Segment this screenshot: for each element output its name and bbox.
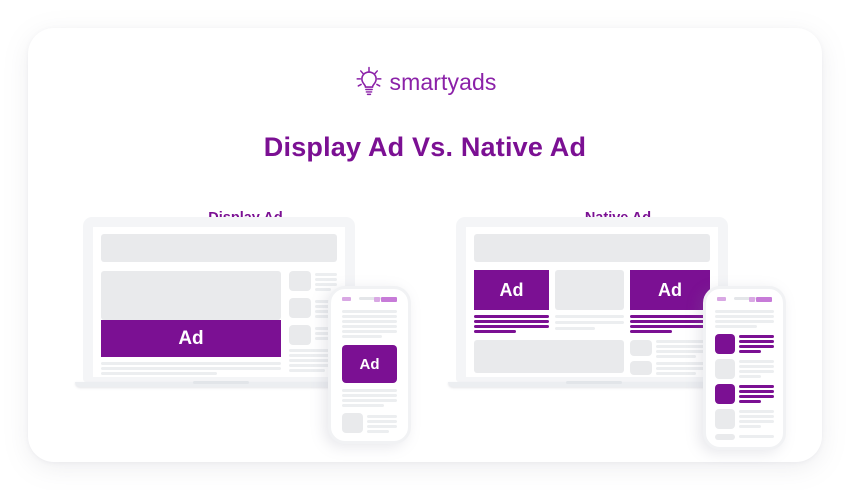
phone-line: [342, 325, 397, 328]
sidebar-thumb: [289, 298, 311, 318]
native-ad-phone: [703, 286, 786, 450]
phone-line: [342, 394, 397, 397]
body-line: [101, 372, 217, 375]
battery-icon: [756, 297, 772, 302]
signal-icon: [717, 297, 726, 301]
phone-line: [739, 425, 761, 428]
organic-card-2: [555, 270, 624, 310]
sidebar-line: [315, 273, 337, 276]
phone-line: [739, 410, 774, 413]
lower-content-block: [474, 340, 624, 373]
phone-line-purple: [739, 335, 774, 338]
organic-line: [555, 315, 624, 318]
phone-line: [367, 425, 397, 428]
phone-line: [342, 335, 382, 338]
content-card: smartyads Display Ad Vs. Native Ad Displ…: [28, 28, 822, 462]
phone-line: [715, 315, 774, 318]
lower-line: [656, 355, 696, 358]
organic-line: [555, 321, 624, 324]
sidebar-line: [315, 283, 337, 286]
lightbulb-icon: [354, 66, 384, 98]
wifi-icon: [749, 297, 755, 302]
native-line-purple: [630, 320, 705, 323]
phone-organic-thumb-4: [715, 409, 735, 429]
phone-screen: Ad: [335, 293, 404, 437]
native-line-purple: [630, 315, 705, 318]
native-ad-card-1[interactable]: Ad: [474, 270, 549, 310]
brand-logo[interactable]: smartyads: [28, 66, 822, 98]
phone-line-purple: [739, 350, 761, 353]
phone-line: [739, 360, 774, 363]
phone-line: [739, 365, 774, 368]
native-line-purple: [474, 320, 549, 323]
body-line: [101, 362, 281, 365]
organic-line: [555, 327, 595, 330]
phone-organic-thumb-2: [715, 359, 735, 379]
phone-line: [342, 315, 397, 318]
native-line-purple: [474, 330, 516, 333]
display-ad-phone: Ad: [328, 286, 411, 444]
phone-line-purple: [739, 400, 761, 403]
page-title: Display Ad Vs. Native Ad: [28, 132, 822, 163]
phone-line: [367, 415, 397, 418]
phone-screen: [710, 293, 779, 443]
hero-content-block: [101, 271, 281, 320]
brand-name: smartyads: [390, 69, 497, 96]
signal-icon: [342, 297, 351, 301]
phone-line-purple: [739, 340, 774, 343]
native-line-purple: [630, 330, 672, 333]
sidebar-line: [315, 278, 337, 281]
screenshot-stage: smartyads Display Ad Vs. Native Ad Displ…: [0, 0, 850, 490]
phone-status-bar: [335, 293, 404, 306]
lower-line: [656, 350, 710, 353]
body-line: [101, 367, 281, 370]
phone-line: [342, 399, 397, 402]
display-ad-mockup: Ad: [75, 213, 395, 413]
native-line-purple: [474, 315, 549, 318]
lower-line: [656, 367, 710, 370]
phone-status-bar: [710, 293, 779, 306]
site-header-block: [474, 234, 710, 262]
phone-line-purple: [739, 345, 774, 348]
sidebar-thumb: [289, 325, 311, 345]
phone-line: [739, 375, 761, 378]
native-ad-card-1-label: Ad: [500, 280, 524, 301]
native-line-purple: [630, 325, 705, 328]
native-ad-card-3[interactable]: Ad: [630, 270, 710, 310]
phone-line: [342, 310, 397, 313]
phone-line: [739, 370, 774, 373]
display-ad-banner-label: Ad: [178, 328, 203, 350]
native-line-purple: [474, 325, 549, 328]
phone-line: [739, 420, 774, 423]
lower-line: [656, 340, 710, 343]
phone-line: [715, 310, 774, 313]
laptop-screen: Ad: [93, 227, 345, 377]
phone-line: [739, 435, 774, 438]
sidebar-thumb: [289, 271, 311, 291]
lower-line: [656, 362, 710, 365]
phone-line: [342, 389, 397, 392]
sidebar-line: [315, 288, 331, 291]
lower-thumb: [630, 361, 652, 375]
phone-footer-block: [715, 434, 735, 440]
phone-thumb: [342, 413, 363, 433]
phone-line-purple: [739, 395, 774, 398]
lower-line: [656, 345, 710, 348]
lower-thumb: [630, 340, 652, 356]
phone-native-ad-thumb-1[interactable]: [715, 334, 735, 354]
phone-line: [715, 325, 757, 328]
wifi-icon: [374, 297, 380, 302]
laptop-trackpad-notch: [193, 381, 249, 384]
phone-line: [367, 430, 389, 433]
phone-line: [342, 404, 384, 407]
lower-line: [656, 372, 696, 375]
native-ad-mockup: Ad Ad: [448, 213, 808, 413]
phone-line: [342, 320, 397, 323]
phone-display-ad-label: Ad: [360, 356, 380, 373]
phone-line: [342, 330, 397, 333]
display-ad-banner[interactable]: Ad: [101, 320, 281, 357]
phone-line: [739, 415, 774, 418]
native-ad-card-3-label: Ad: [658, 280, 682, 301]
phone-line: [367, 420, 397, 423]
phone-line: [715, 320, 774, 323]
battery-icon: [381, 297, 397, 302]
phone-line-purple: [739, 390, 774, 393]
phone-native-ad-thumb-3[interactable]: [715, 384, 735, 404]
laptop-trackpad-notch: [566, 381, 622, 384]
sidebar-line: [289, 369, 325, 372]
site-header-block: [101, 234, 337, 262]
laptop-screen: Ad Ad: [466, 227, 718, 377]
phone-line-purple: [739, 385, 774, 388]
phone-display-ad[interactable]: Ad: [342, 345, 397, 383]
